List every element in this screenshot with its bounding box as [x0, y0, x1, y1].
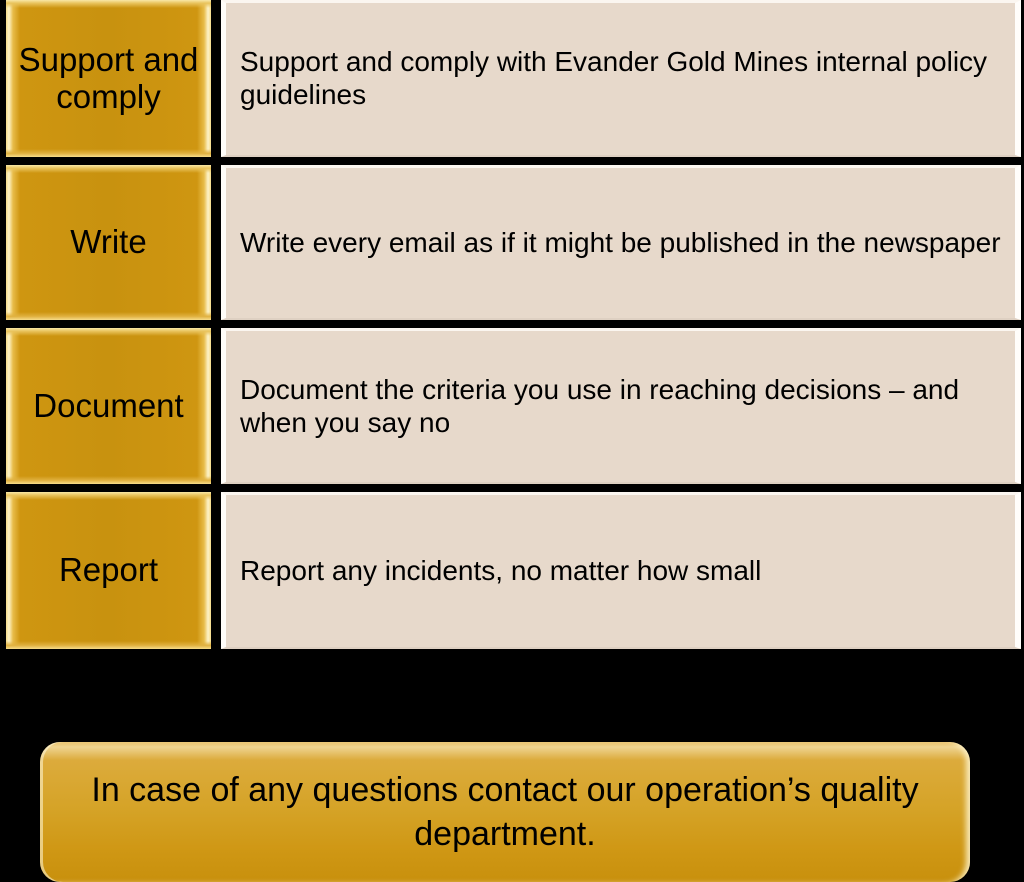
- rule-key-block: Write: [6, 165, 211, 320]
- rule-key-block: Support and comply: [6, 0, 211, 157]
- table-row: Document Document the criteria you use i…: [0, 328, 1024, 484]
- rule-key-label: Document: [29, 388, 187, 425]
- rule-description-text: Write every email as if it might be publ…: [226, 227, 1015, 260]
- rule-description-panel: Write every email as if it might be publ…: [221, 165, 1021, 320]
- contact-banner: In case of any questions contact our ope…: [40, 742, 970, 882]
- rules-table: Support and comply Support and comply wi…: [0, 0, 1024, 657]
- rule-description-panel: Support and comply with Evander Gold Min…: [221, 0, 1021, 157]
- rule-description-text: Support and comply with Evander Gold Min…: [226, 46, 1015, 112]
- rule-key-label: Support and comply: [6, 42, 211, 116]
- contact-banner-text: In case of any questions contact our ope…: [74, 768, 936, 856]
- rule-key-block: Document: [6, 328, 211, 484]
- rule-description-panel: Document the criteria you use in reachin…: [221, 328, 1021, 484]
- rule-key-label: Write: [66, 224, 150, 261]
- rule-key-label: Report: [55, 552, 162, 589]
- table-row: Support and comply Support and comply wi…: [0, 0, 1024, 157]
- rule-description-text: Document the criteria you use in reachin…: [226, 374, 1015, 440]
- rule-key-block: Report: [6, 492, 211, 649]
- table-row: Write Write every email as if it might b…: [0, 165, 1024, 320]
- table-row: Report Report any incidents, no matter h…: [0, 492, 1024, 649]
- rule-description-panel: Report any incidents, no matter how smal…: [221, 492, 1021, 649]
- rule-description-text: Report any incidents, no matter how smal…: [226, 555, 775, 588]
